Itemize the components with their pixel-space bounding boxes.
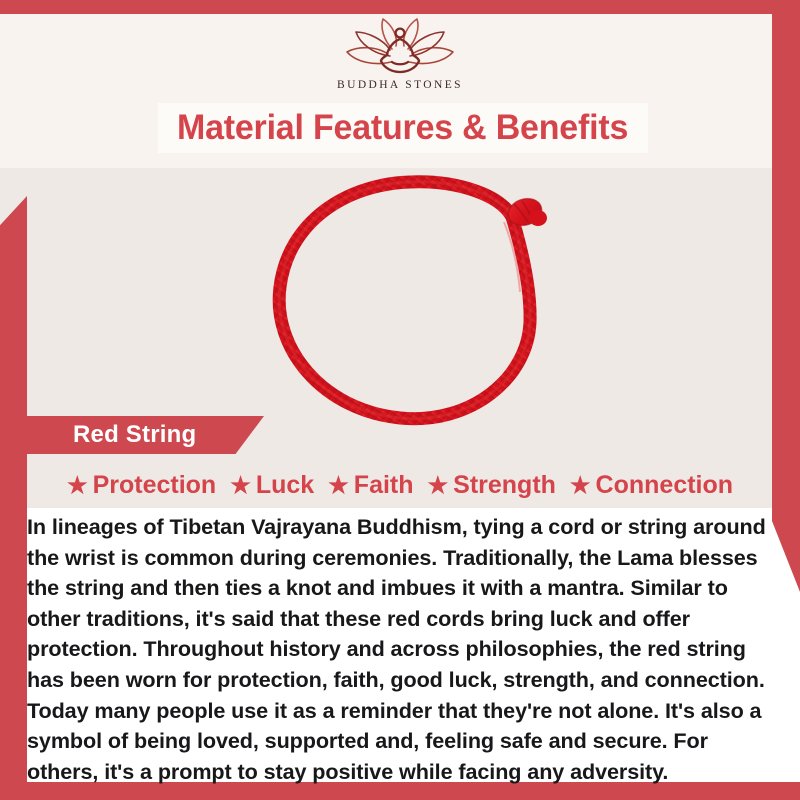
benefit-label: Connection (596, 471, 734, 500)
benefit-item-faith: ★ Faith (328, 471, 413, 500)
benefit-item-luck: ★ Luck (230, 471, 314, 500)
benefit-item-protection: ★ Protection (67, 471, 216, 500)
frame-top-bar (0, 0, 800, 14)
star-icon: ★ (570, 474, 591, 497)
red-string-bracelet-image (250, 172, 570, 434)
benefit-label: Strength (453, 471, 556, 500)
brand-logo: BUDDHA STONES (0, 16, 800, 104)
benefit-item-strength: ★ Strength (428, 471, 556, 500)
page-title-band: Material Features & Benefits (158, 103, 648, 153)
description-paragraph: In lineages of Tibetan Vajrayana Buddhis… (27, 512, 772, 787)
star-icon: ★ (428, 474, 449, 497)
star-icon: ★ (328, 474, 349, 497)
page-title: Material Features & Benefits (177, 108, 628, 148)
star-icon: ★ (67, 474, 88, 497)
benefit-label: Faith (354, 471, 414, 500)
section-ribbon-label: Red String (73, 421, 196, 449)
benefits-list: ★ Protection ★ Luck ★ Faith ★ Strength ★… (0, 465, 800, 505)
benefit-label: Luck (256, 471, 314, 500)
star-icon: ★ (230, 474, 251, 497)
lotus-meditation-figure-icon (334, 16, 466, 78)
benefit-item-connection: ★ Connection (570, 471, 733, 500)
brand-name: BUDDHA STONES (337, 79, 463, 91)
section-ribbon: Red String (27, 416, 264, 454)
infographic-page: BUDDHA STONES Material Features & Benefi… (0, 0, 800, 800)
benefit-label: Protection (93, 471, 217, 500)
